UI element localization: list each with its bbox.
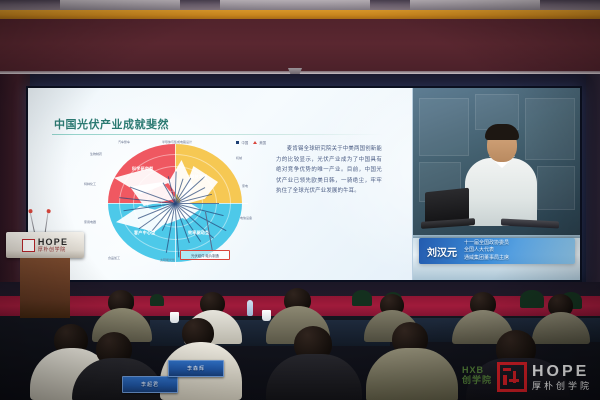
slide-body-text: 麦肯锡全球研究院关于中美两国创新能力的比较显示，光伏产业成为了中国具有绝对竞争优… [276,144,382,197]
speaker-name: 刘汉元 [427,244,457,259]
logo-stroke [503,375,507,385]
video-wall-panel [525,98,575,160]
watermark-words: HOPE 厚朴创学院 [532,364,592,391]
podium-logo-en: HOPE [38,238,68,247]
stage-plant [150,294,164,306]
legend-item-usa: 美国 [253,140,266,145]
watermark-en: HOPE [532,364,592,380]
watermark-ghost-text: HXB 创学院 [462,366,492,386]
chart-highlight-callout: 光伏组件 硅片制造 [180,250,230,260]
logo-stroke [509,379,519,382]
radar-quadrant-top-right [175,144,242,203]
name-placard: 李森辉 [168,360,224,377]
legend-label: 中国 [241,140,248,145]
screenshot-scene: 中国光伏产业成就斐然 中国 美国 [0,0,600,400]
hope-logo-mark-icon [497,362,527,392]
radar-axis-label: 太阳能光伏 [160,258,175,262]
watermark-logo: HOPE 厚朴创学院 [497,362,592,392]
presentation-slide: 中国光伏产业成就斐然 中国 美国 [28,88,408,280]
radar-axis-label: 汽车整车 [118,140,130,144]
watermark-cn: 厚朴创学院 [532,382,592,391]
microphone-head-icon [46,209,51,214]
radar-axis-label: 电信设备 [240,216,252,220]
water-bottle [247,300,253,316]
triangle-marker-icon [253,141,257,144]
ceiling-light-strip [0,10,600,19]
video-wall-panel [419,98,469,156]
ceiling-wall-band [0,19,600,74]
speaker-body [465,158,537,226]
watermark-ghost-line: 创学院 [462,376,492,386]
speaker-title-line: 通威集团董事局主席 [464,255,509,262]
stage-plant [520,290,544,308]
hope-logo-mark-icon [22,239,35,252]
projection-screen: 中国光伏产业成就斐然 中国 美国 [28,88,580,280]
legend-label: 美国 [259,140,266,145]
name-placard: 李超君 [122,376,178,393]
radar-disc [108,144,242,262]
podium-logo-words: HOPE 厚朴创学院 [38,238,68,253]
tea-cup [262,310,271,321]
tea-cup [170,312,179,323]
wall-right-panel [586,74,600,304]
radar-axis-label: 生物制药 [90,152,102,156]
name-placard-label: 李森辉 [187,365,205,372]
radar-axis-label: 特种化工 [84,182,96,186]
slide-title: 中国光伏产业成就斐然 [54,116,169,132]
speaker-hair [485,124,519,140]
slide-title-divider [52,134,382,135]
video-wall-panel [537,166,575,210]
podium-front-panel: HOPE 厚朴创学院 [6,232,84,258]
podium-column [20,258,70,318]
speaker-title-line: 全国人大代表 [464,247,509,254]
radar-quadrant-top-left [108,144,175,203]
video-inset: 刘汉元 十一届全国政协委员 全国人大代表 通威集团董事局主席 [412,88,580,280]
speaker-titles: 十一届全国政协委员 全国人大代表 通威集团董事局主席 [464,240,509,262]
name-placard-label: 李超君 [141,381,159,388]
radar-quadrant-bottom-left [108,203,175,262]
radar-axis-label: 家电 [242,184,248,188]
radar-chart: 中国 美国 [84,140,270,266]
podium-logo: HOPE 厚朴创学院 [22,238,68,253]
speaker-lower-third: 刘汉元 十一届全国政协委员 全国人大代表 通威集团董事局主席 [419,238,575,264]
radar-axis-label: 家用电器 [84,220,96,224]
logo-stroke [503,368,511,371]
podium-logo-cn: 厚朴创学院 [38,248,68,253]
podium: HOPE 厚朴创学院 [6,232,84,318]
radar-axis-label: 食品加工 [108,256,120,260]
radar-axis-label: 机械 [236,156,242,160]
radar-axis-label: 半导体与集成电路设计 [162,140,192,144]
stage-plant [352,290,372,306]
